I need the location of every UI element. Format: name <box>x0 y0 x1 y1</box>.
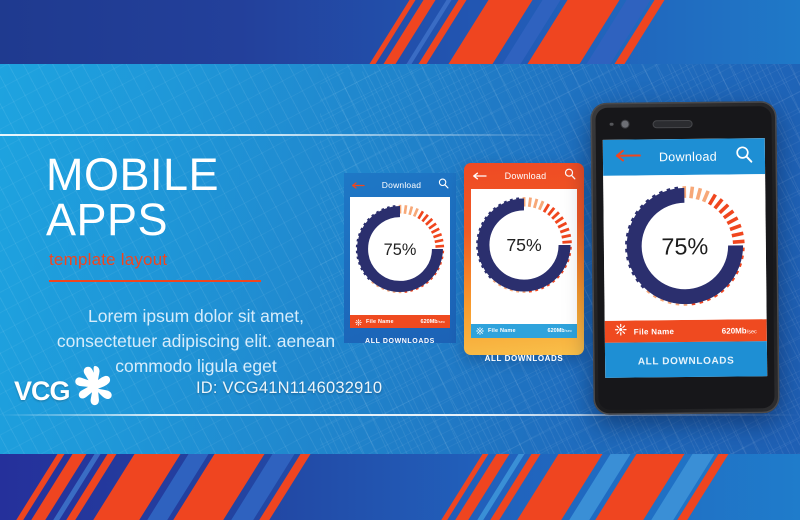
top-decorative-band <box>0 0 800 64</box>
hero-copy-block: MOBILE APPS template layout Lorem ipsum … <box>46 152 346 379</box>
phone-app-body: 75% <box>603 174 767 321</box>
poster-canvas: MOBILE APPS template layout Lorem ipsum … <box>0 0 800 520</box>
phone-file-size: 620Mb/sec <box>722 326 757 335</box>
phone-file-name: File Name <box>634 327 675 336</box>
progress-value-orange: 75% <box>506 235 542 255</box>
phone-mockup: Download 75% <box>590 101 779 415</box>
earpiece-speaker <box>654 121 692 127</box>
title-divider <box>49 280 261 282</box>
card-blue-progress-wrap: 75% <box>350 201 450 297</box>
card-orange-file-size: 620Mb/sec <box>548 328 572 334</box>
back-arrow-icon[interactable] <box>351 176 365 194</box>
progress-ring-orange: 75% <box>472 193 576 297</box>
card-blue-file-name: File Name <box>366 319 394 325</box>
burst-icon <box>355 313 362 331</box>
phone-screen: Download 75% <box>603 138 767 378</box>
burst-icon <box>476 322 484 340</box>
phone-progress-wrap: 75% <box>603 180 766 312</box>
card-blue-all-downloads[interactable]: ALL DOWNLOADS <box>344 338 456 345</box>
progress-ring-phone: 75% <box>619 180 750 311</box>
bottom-decorative-band <box>0 454 800 520</box>
search-icon[interactable] <box>438 176 449 194</box>
card-blue-title: Download <box>382 180 421 190</box>
app-card-orange[interactable]: Download 75% File Name 620Mb/sec <box>464 163 584 355</box>
card-blue-header: Download <box>344 173 456 197</box>
phone-filebar[interactable]: File Name 620Mb/sec <box>605 319 767 343</box>
search-icon[interactable] <box>564 167 576 185</box>
back-arrow-icon[interactable] <box>472 167 487 185</box>
phone-app-header: Download <box>603 138 765 176</box>
card-blue-body: 75% <box>350 197 450 315</box>
bottom-stripe-group <box>0 454 800 520</box>
back-arrow-icon[interactable] <box>615 148 641 166</box>
sensor-dot-icon <box>610 122 614 126</box>
background-highlight-line-bottom <box>0 414 800 416</box>
phone-app-title: Download <box>641 149 735 164</box>
progress-value-blue: 75% <box>384 241 417 259</box>
card-blue-filebar[interactable]: File Name 620Mb/sec <box>350 315 450 328</box>
search-icon[interactable] <box>735 145 753 168</box>
phone-bezel: Download 75% <box>595 106 774 410</box>
page-title: MOBILE APPS <box>46 152 346 242</box>
card-blue-file-size: 620Mb/sec <box>421 319 445 325</box>
phone-sensor-row <box>610 121 629 128</box>
front-camera-icon <box>621 121 628 128</box>
phone-app-footer: ALL DOWNLOADS <box>605 341 767 378</box>
card-orange-progress-wrap: 75% <box>471 193 577 297</box>
card-orange-body: 75% <box>471 189 577 324</box>
burst-icon <box>615 323 627 341</box>
card-orange-title: Download <box>505 171 547 181</box>
phone-all-downloads[interactable]: ALL DOWNLOADS <box>605 355 767 368</box>
progress-value-phone: 75% <box>661 233 708 259</box>
top-stripe-group <box>0 0 800 64</box>
progress-ring-blue: 75% <box>352 201 448 297</box>
hero-body-text: Lorem ipsum dolor sit amet, consectetuer… <box>46 304 346 379</box>
card-orange-all-downloads[interactable]: ALL DOWNLOADS <box>464 354 584 363</box>
card-orange-filebar[interactable]: File Name 620Mb/sec <box>471 324 577 338</box>
app-card-blue[interactable]: Download 75% File Name 620Mb/sec <box>344 173 456 343</box>
page-subtitle: template layout <box>49 250 346 270</box>
card-orange-header: Download <box>464 163 584 189</box>
card-orange-file-name: File Name <box>488 328 516 334</box>
